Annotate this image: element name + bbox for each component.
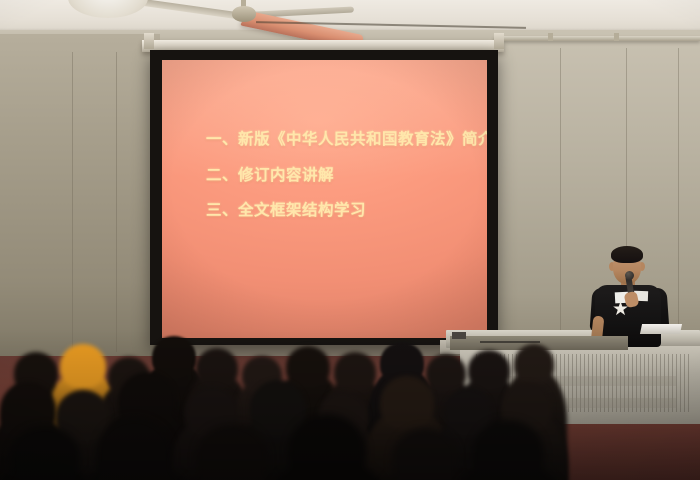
podium-device	[452, 332, 466, 339]
wall-seam	[72, 52, 73, 352]
audience-member-head	[472, 420, 544, 480]
audience-member-head	[196, 424, 268, 480]
audience-member-head	[392, 428, 458, 480]
ceiling-fan-motor	[232, 6, 256, 22]
slide-line-2: 二、修订内容讲解	[206, 168, 477, 184]
conduit-clip	[614, 33, 619, 41]
projection-screen: 一、新版《中华人民共和国教育法》简介 二、修订内容讲解 三、全文框架结构学习	[150, 50, 498, 345]
audience-member-head	[196, 348, 238, 388]
audience-member-head	[334, 352, 376, 392]
slide-line-1: 一、新版《中华人民共和国教育法》简介	[206, 132, 477, 148]
audience-member-head	[514, 344, 554, 384]
wall-seam	[116, 52, 117, 352]
audience-member-cap	[60, 344, 106, 388]
wall-conduit	[494, 36, 700, 41]
audience-member-head	[152, 336, 196, 378]
roller-bracket	[144, 33, 154, 49]
laptop-on-podium	[640, 324, 682, 334]
podium-cable	[480, 341, 540, 343]
wall-left	[0, 34, 160, 364]
wall-seam	[678, 48, 679, 328]
audience-member-head	[10, 426, 80, 480]
slide-content: 一、新版《中华人民共和国教育法》简介 二、修订内容讲解 三、全文框架结构学习	[206, 132, 477, 239]
presenter-hair	[611, 246, 643, 263]
audience-member-head	[288, 414, 366, 480]
projected-slide: 一、新版《中华人民共和国教育法》简介 二、修订内容讲解 三、全文框架结构学习	[162, 60, 487, 338]
audience-member-head	[380, 376, 434, 430]
slide-line-3: 三、全文框架结构学习	[206, 203, 477, 219]
conduit-clip	[548, 33, 553, 41]
microphone-head-icon	[625, 271, 634, 280]
audience-member-head	[96, 418, 172, 480]
wall-seam	[560, 48, 561, 348]
audience-member-head	[286, 346, 330, 388]
lecture-hall-photo: 一、新版《中华人民共和国教育法》简介 二、修订内容讲解 三、全文框架结构学习	[0, 0, 700, 480]
audience-member-head	[426, 354, 466, 392]
roller-bracket	[494, 33, 504, 49]
audience-member-head	[468, 350, 510, 390]
